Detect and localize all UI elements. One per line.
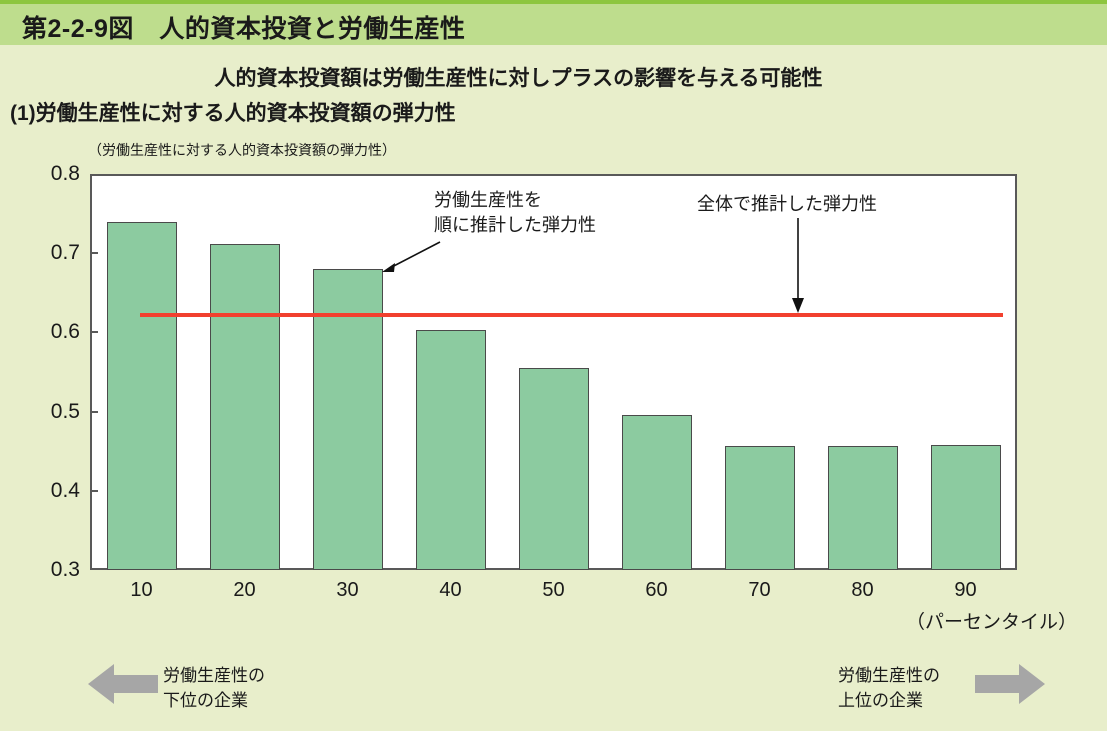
bar	[519, 368, 589, 570]
y-tick-label: 0.6	[22, 321, 80, 342]
arrow-left-icon	[88, 660, 158, 713]
y-tick-label: 0.5	[22, 401, 80, 422]
x-tick-label: 60	[617, 580, 697, 600]
bar	[107, 222, 177, 570]
bar	[931, 445, 1001, 570]
bar	[416, 330, 486, 570]
x-tick-label: 90	[926, 580, 1006, 600]
x-tick-label: 70	[720, 580, 800, 600]
footer-note-right: 労働生産性の 上位の企業	[838, 663, 940, 713]
x-tick-label: 40	[411, 580, 491, 600]
y-tick-mark	[90, 411, 98, 413]
x-axis-unit-label: （パーセンタイル）	[906, 607, 1077, 634]
x-tick-label: 10	[102, 580, 182, 600]
y-tick-mark	[90, 490, 98, 492]
overall-annotation: 全体で推計した弾力性	[697, 192, 877, 217]
plot-area	[90, 174, 1017, 570]
y-tick-mark	[90, 252, 98, 254]
footer-note-left-line1: 労働生産性の	[163, 663, 265, 688]
y-tick-label: 0.8	[22, 163, 80, 184]
footer-note-left-line2: 下位の企業	[163, 688, 265, 713]
section-label: (1)労働生産性に対する人的資本投資額の弾力性	[10, 97, 456, 127]
bar	[828, 446, 898, 570]
overall-annotation-arrow-icon	[789, 218, 809, 314]
footer-note-left: 労働生産性の 下位の企業	[163, 663, 265, 713]
x-tick-label: 80	[823, 580, 903, 600]
y-tick-label: 0.3	[22, 559, 80, 580]
y-tick-label: 0.4	[22, 480, 80, 501]
x-tick-label: 50	[514, 580, 594, 600]
bar	[622, 415, 692, 570]
arrow-right-icon	[975, 660, 1045, 713]
figure-headline: 人的資本投資額は労働生産性に対しプラスの影響を与える可能性	[0, 62, 1107, 92]
y-axis-unit-label: （労働生産性に対する人的資本投資額の弾力性）	[88, 140, 396, 160]
y-tick-mark	[90, 331, 98, 333]
x-tick-label: 30	[308, 580, 388, 600]
bar	[210, 244, 280, 570]
footer-note-right-line2: 上位の企業	[838, 688, 940, 713]
bar	[725, 446, 795, 570]
series-annotation-line2: 順に推計した弾力性	[434, 213, 596, 238]
bar	[313, 269, 383, 570]
series-annotation: 労働生産性を 順に推計した弾力性	[434, 188, 596, 238]
x-tick-label: 20	[205, 580, 285, 600]
footer-note-right-line1: 労働生産性の	[838, 663, 940, 688]
y-tick-label: 0.7	[22, 242, 80, 263]
page-title: 第2-2-9図 人的資本投資と労働生産性	[22, 9, 465, 45]
figure-title-bar: 第2-2-9図 人的資本投資と労働生産性	[0, 0, 1107, 45]
series-annotation-line1: 労働生産性を	[434, 188, 596, 213]
reference-line	[140, 313, 1003, 317]
series-annotation-arrow-icon	[374, 238, 444, 280]
